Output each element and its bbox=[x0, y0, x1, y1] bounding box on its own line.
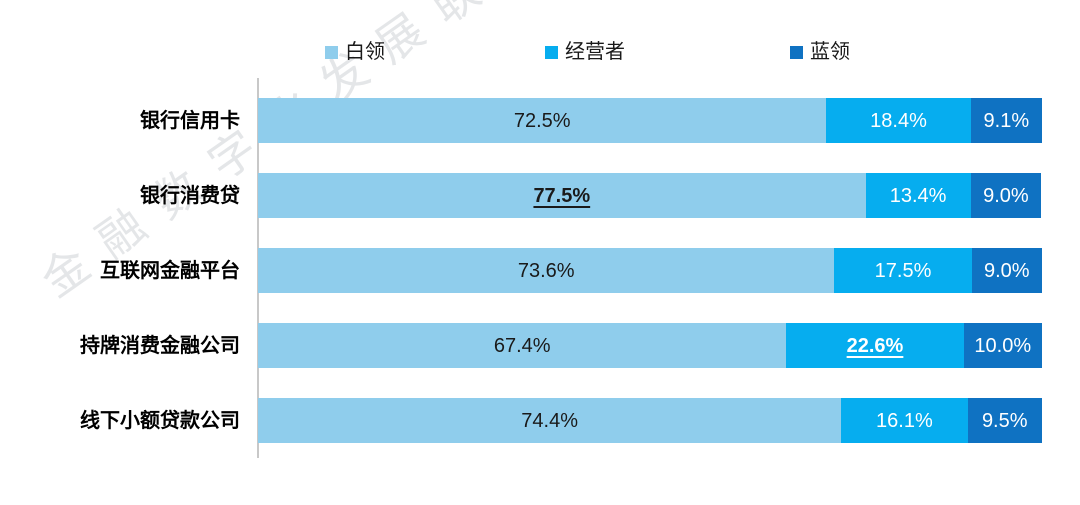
chart-row: 银行消费贷77.5%13.4%9.0% bbox=[0, 173, 1080, 218]
legend-label: 白领 bbox=[345, 42, 385, 62]
bar-segment[interactable]: 9.1% bbox=[971, 98, 1042, 143]
category-label: 银行信用卡 bbox=[0, 111, 240, 131]
legend-swatch-icon bbox=[790, 46, 803, 59]
bar-segment-value: 16.1% bbox=[876, 411, 933, 431]
stacked-bar-chart: 金融数字化发展联盟 白领 经营者 蓝领 银行信用卡72.5%18.4%9.1%银… bbox=[0, 0, 1080, 505]
bar-segment[interactable]: 67.4% bbox=[258, 323, 786, 368]
category-label: 持牌消费金融公司 bbox=[0, 336, 240, 356]
chart-row: 持牌消费金融公司67.4%22.6%10.0% bbox=[0, 323, 1080, 368]
plot-area: 银行信用卡72.5%18.4%9.1%银行消费贷77.5%13.4%9.0%互联… bbox=[0, 78, 1080, 460]
bar-segment[interactable]: 9.0% bbox=[972, 248, 1042, 293]
bar-segment[interactable]: 9.0% bbox=[971, 173, 1042, 218]
bar-segment-value: 10.0% bbox=[974, 336, 1031, 356]
bar-segment[interactable]: 22.6% bbox=[786, 323, 963, 368]
category-label: 线下小额贷款公司 bbox=[0, 411, 240, 431]
stacked-bar: 77.5%13.4%9.0% bbox=[258, 173, 1042, 218]
bar-segment[interactable]: 18.4% bbox=[826, 98, 970, 143]
category-label: 银行消费贷 bbox=[0, 186, 240, 206]
legend-item-blue-collar[interactable]: 蓝领 bbox=[790, 36, 850, 68]
category-label: 互联网金融平台 bbox=[0, 261, 240, 281]
legend-item-white-collar[interactable]: 白领 bbox=[325, 36, 385, 68]
bar-segment[interactable]: 74.4% bbox=[258, 398, 841, 443]
bar-segment-value: 9.0% bbox=[983, 186, 1029, 206]
bar-segment-value: 9.5% bbox=[982, 411, 1028, 431]
bar-segment[interactable]: 10.0% bbox=[964, 323, 1042, 368]
legend-swatch-icon bbox=[545, 46, 558, 59]
chart-legend: 白领 经营者 蓝领 bbox=[255, 36, 1045, 68]
bar-segment[interactable]: 77.5% bbox=[258, 173, 866, 218]
bar-segment-value: 77.5% bbox=[533, 186, 590, 206]
legend-label: 经营者 bbox=[565, 42, 625, 62]
stacked-bar: 67.4%22.6%10.0% bbox=[258, 323, 1042, 368]
stacked-bar: 72.5%18.4%9.1% bbox=[258, 98, 1042, 143]
chart-row: 银行信用卡72.5%18.4%9.1% bbox=[0, 98, 1080, 143]
bar-segment-value: 74.4% bbox=[521, 411, 578, 431]
legend-item-business-owner[interactable]: 经营者 bbox=[545, 36, 625, 68]
bar-segment-value: 18.4% bbox=[870, 111, 927, 131]
bar-segment-value: 9.1% bbox=[984, 111, 1030, 131]
bar-segment-value: 22.6% bbox=[847, 336, 904, 356]
bar-segment[interactable]: 16.1% bbox=[841, 398, 967, 443]
bar-segment[interactable]: 72.5% bbox=[258, 98, 826, 143]
bar-segment[interactable]: 9.5% bbox=[968, 398, 1042, 443]
bar-segment-value: 17.5% bbox=[875, 261, 932, 281]
bar-segment[interactable]: 17.5% bbox=[834, 248, 971, 293]
stacked-bar: 73.6%17.5%9.0% bbox=[258, 248, 1042, 293]
legend-swatch-icon bbox=[325, 46, 338, 59]
bar-segment[interactable]: 13.4% bbox=[866, 173, 971, 218]
chart-row: 线下小额贷款公司74.4%16.1%9.5% bbox=[0, 398, 1080, 443]
bar-segment-value: 73.6% bbox=[518, 261, 575, 281]
bar-segment-value: 9.0% bbox=[984, 261, 1030, 281]
bar-segment-value: 67.4% bbox=[494, 336, 551, 356]
legend-label: 蓝领 bbox=[810, 42, 850, 62]
bar-segment-value: 72.5% bbox=[514, 111, 571, 131]
chart-row: 互联网金融平台73.6%17.5%9.0% bbox=[0, 248, 1080, 293]
bar-segment[interactable]: 73.6% bbox=[258, 248, 834, 293]
stacked-bar: 74.4%16.1%9.5% bbox=[258, 398, 1042, 443]
bar-segment-value: 13.4% bbox=[890, 186, 947, 206]
